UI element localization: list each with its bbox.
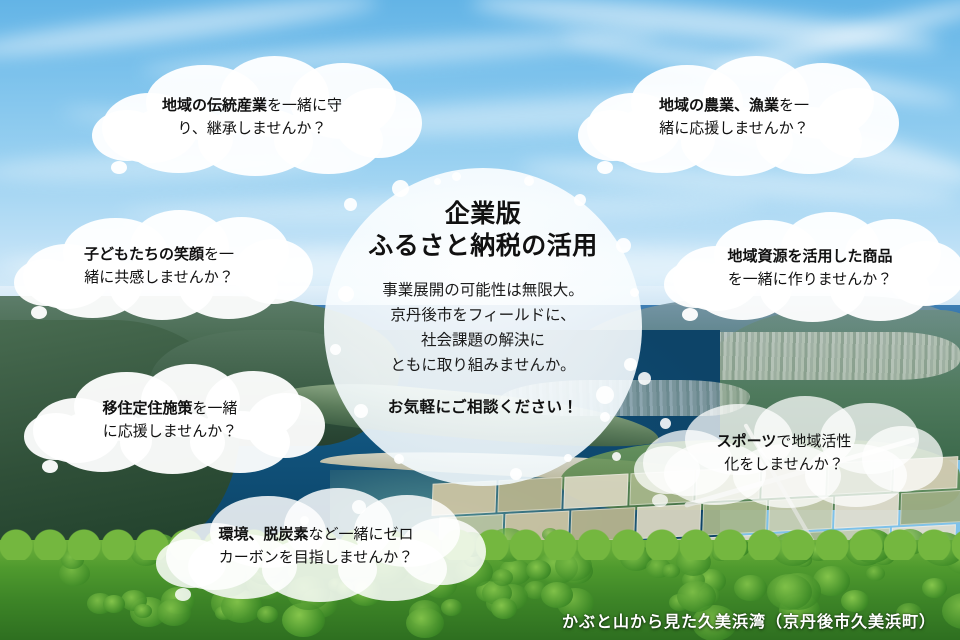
bubble-line2-text: 緒に共感しませんか？ (84, 269, 234, 286)
bubble-dot (452, 172, 461, 181)
cloud-tail-dot (175, 588, 191, 601)
bubble-dot (344, 198, 357, 211)
bubble-strong-text: 地域の農業、漁業 (659, 97, 779, 114)
foliage-cluster (860, 530, 884, 549)
foliage-cluster (894, 529, 926, 555)
bubble-rest-text: で地域活性 (776, 433, 851, 450)
foliage-cluster (767, 574, 812, 610)
foliage-cluster (257, 606, 278, 623)
bubble-text: 環境、脱炭素など一緒にゼロ カーボンを目指しませんか？ (212, 523, 419, 570)
hero-circle[interactable]: 企業版 ふるさと納税の活用 事業展開の可能性は無限大。 京丹後市をフィールドに、… (324, 168, 642, 486)
hero-body-line3: 社会課題の解決に (421, 332, 545, 349)
foliage-cluster (734, 575, 767, 601)
bubble-dot (630, 288, 639, 297)
bubble-rest-text: を一 (779, 97, 809, 114)
hero-body-line2: 京丹後市をフィールドに、 (390, 307, 575, 324)
hero-body-line1: 事業展開の可能性は無限大。 (382, 282, 584, 299)
bubble-line2-text: カーボンを目指しませんか？ (219, 549, 414, 566)
bubble-migration-settlement[interactable]: 移住定住施策を一緒 に応援しませんか？ (24, 364, 316, 476)
foliage-cluster (492, 569, 513, 586)
bubble-dot (616, 238, 631, 253)
bubble-rest-text: など一緒にゼロ (309, 526, 414, 543)
bubble-rest-text: を一緒に守 (267, 97, 342, 114)
bubble-dot (354, 404, 368, 418)
bubble-text: 地域の伝統産業を一緒に守 り、継承しませんか？ (156, 94, 348, 141)
cloud-tail-dot (31, 306, 47, 319)
bubble-dot (596, 386, 614, 404)
bubble-dot (574, 194, 586, 206)
bubble-dot (394, 454, 404, 464)
foliage-cluster (406, 608, 444, 638)
photo-caption: かぶと山から見た久美浜湾（京丹後市久美浜町） (562, 608, 936, 632)
hero-title: 企業版 ふるさと納税の活用 (368, 198, 598, 262)
cloud-tail-dot (597, 161, 613, 174)
bubble-dot (660, 418, 671, 429)
bubble-dot (524, 176, 534, 186)
bubble-strong-text: 地域の伝統産業 (162, 97, 267, 114)
foliage-cluster (922, 532, 960, 566)
cloud-tail-dot (111, 161, 127, 174)
poster-root: 地域の伝統産業を一緒に守 り、継承しませんか？ 地域の農業、漁業を一 緒に応援し… (0, 0, 960, 640)
bubble-text: スポーツで地域活性 化をしませんか？ (711, 430, 858, 477)
bubble-zero-carbon[interactable]: 環境、脱炭素など一緒にゼロ カーボンを目指しませんか？ (156, 488, 476, 604)
foliage-cluster (726, 538, 750, 557)
cloud-tail-dot (652, 494, 668, 507)
foliage-cluster (555, 551, 592, 581)
bubble-text: 移住定住施策を一緒 に応援しませんか？ (96, 397, 243, 444)
bubble-strong-text: 子どもたちの笑顔 (84, 246, 204, 263)
bubble-line2-text: 化をしませんか？ (724, 456, 844, 473)
cloud-tail-dot (682, 308, 698, 321)
foliage-cluster (662, 564, 680, 578)
foliage-cluster (542, 528, 558, 541)
bubble-dot (338, 286, 354, 302)
bubble-text: 子どもたちの笑顔を一 緒に共感しませんか？ (78, 243, 240, 290)
foliage-cluster (676, 548, 711, 576)
bubble-dot (392, 180, 409, 197)
foliage-cluster (487, 528, 529, 562)
foliage-cluster (851, 529, 893, 563)
bubble-dot (624, 358, 637, 371)
bubble-dot (352, 500, 366, 514)
foliage-cluster (772, 532, 814, 566)
foliage-cluster (807, 543, 830, 561)
bubble-dot (510, 468, 522, 480)
hero-title-line2: ふるさと納税の活用 (368, 232, 598, 260)
foliage-cluster (491, 598, 517, 619)
hero-body: 事業展開の可能性は無限大。 京丹後市をフィールドに、 社会課題の解決に ともに取… (382, 278, 584, 378)
bubble-strong-text: 環境、脱炭素 (218, 526, 308, 543)
bubble-line2-text: に応援しませんか？ (103, 423, 238, 440)
bubble-traditional-industry[interactable]: 地域の伝統産業を一緒に守 り、継承しませんか？ (92, 56, 412, 178)
paddy-plot (563, 473, 628, 508)
bubble-line2-text: 緒に応援しませんか？ (659, 120, 809, 137)
foliage-cluster (712, 548, 728, 561)
bubble-dot (330, 344, 341, 355)
hero-body-line4: ともに取り組みませんか。 (390, 357, 575, 374)
foliage-cluster (945, 543, 960, 574)
foliage-cluster (103, 595, 125, 613)
bubble-local-resources-product[interactable]: 地域資源を活用した商品 を一緒に作りませんか？ (664, 212, 956, 324)
bubble-text: 地域の農業、漁業を一 緒に応援しませんか？ (653, 94, 815, 141)
bubble-rest-text: を一緒 (193, 400, 238, 417)
bubble-rest-text: を一 (204, 246, 234, 263)
foliage-cluster (942, 593, 960, 629)
bubble-strong-text: 移住定住施策 (102, 400, 192, 417)
bubble-strong-text: スポーツ (717, 433, 777, 450)
foliage-cluster (865, 532, 889, 551)
bubble-dot (564, 454, 572, 462)
foliage-cluster (866, 566, 885, 581)
bubble-line2-text: を一緒に作りませんか？ (728, 271, 893, 288)
bubble-agriculture-fishery[interactable]: 地域の農業、漁業を一 緒に応援しませんか？ (578, 56, 890, 178)
bubble-sports-revitalization[interactable]: スポーツで地域活性 化をしませんか？ (634, 396, 934, 510)
foliage-cluster (541, 582, 573, 608)
bubble-text: 地域資源を活用した商品 を一緒に作りませんか？ (721, 245, 898, 292)
bubble-dot (600, 412, 610, 422)
bubble-dot (612, 452, 621, 461)
cloud-tail-dot (42, 460, 58, 473)
hero-cta: お気軽にご相談ください！ (388, 395, 579, 417)
foliage-cluster (872, 547, 895, 565)
hero-title-line1: 企業版 (445, 200, 522, 228)
bubble-strong-text: 地域資源を活用した商品 (727, 248, 892, 265)
foliage-cluster (526, 560, 551, 580)
bubble-dot (638, 372, 651, 385)
foliage-cluster (922, 578, 947, 598)
bubble-children-smiles[interactable]: 子どもたちの笑顔を一 緒に共感しませんか？ (14, 210, 304, 322)
bubble-line2-text: り、継承しませんか？ (178, 120, 327, 137)
bubble-dot (434, 178, 441, 185)
